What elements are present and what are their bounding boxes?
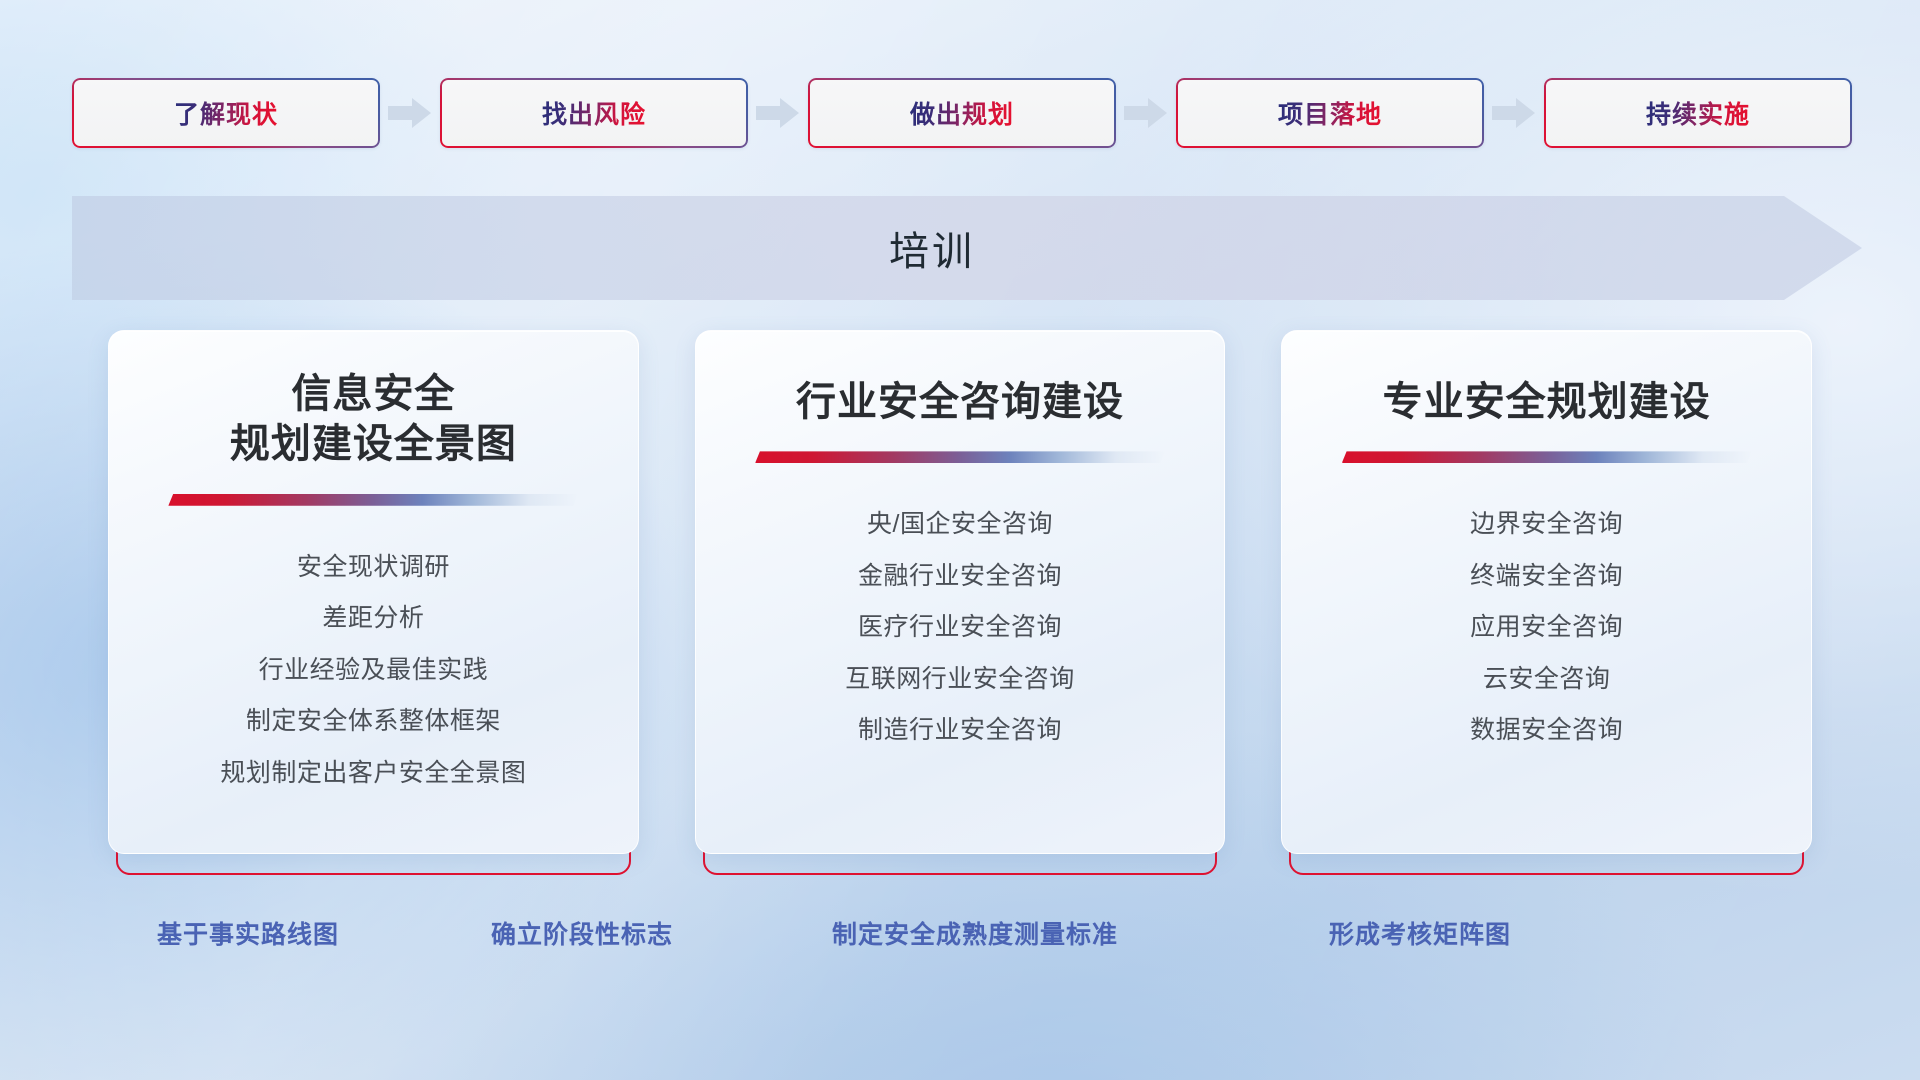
step-box-2[interactable]: 找出风险 — [440, 78, 748, 148]
footer-label-1: 基于事实路线图 — [157, 915, 339, 951]
card-row: 信息安全 规划建设全景图 安全现状调研 差距分析 行业经验及最佳实践 制定安全体… — [108, 330, 1812, 875]
card-list-1: 安全现状调研 差距分析 行业经验及最佳实践 制定安全体系整体框架 规划制定出客户… — [109, 546, 638, 795]
list-item: 终端安全咨询 — [1470, 555, 1623, 598]
step-arrow-icon-2 — [748, 96, 808, 130]
card-divider-3 — [1342, 451, 1752, 463]
step-arrow-icon-1 — [380, 96, 440, 130]
list-item: 央/国企安全咨询 — [867, 503, 1053, 546]
list-item: 制造行业安全咨询 — [858, 709, 1062, 752]
step-label-1: 了解现状 — [174, 95, 278, 131]
list-item: 互联网行业安全咨询 — [845, 658, 1075, 701]
list-item: 云安全咨询 — [1483, 658, 1611, 701]
list-item: 应用安全咨询 — [1470, 606, 1623, 649]
list-item: 金融行业安全咨询 — [858, 555, 1062, 598]
list-item: 差距分析 — [322, 597, 424, 640]
card-divider-2 — [755, 451, 1165, 463]
step-label-4: 项目落地 — [1278, 95, 1382, 131]
footer-label-row: 基于事实路线图 确立阶段性标志 制定安全成熟度测量标准 形成考核矩阵图 — [0, 915, 1920, 965]
step-arrow-icon-3 — [1116, 96, 1176, 130]
card-wrapper-2: 行业安全咨询建设 央/国企安全咨询 金融行业安全咨询 医疗行业安全咨询 互联网行… — [695, 330, 1226, 875]
card-list-3: 边界安全咨询 终端安全咨询 应用安全咨询 云安全咨询 数据安全咨询 — [1282, 503, 1811, 752]
banner-label: 培训 — [72, 196, 1862, 300]
card-title-line: 信息安全 — [230, 369, 517, 419]
step-label-3: 做出规划 — [910, 95, 1014, 131]
card-3[interactable]: 专业安全规划建设 边界安全咨询 终端安全咨询 应用安全咨询 云安全咨询 数据安全… — [1281, 330, 1812, 854]
card-2[interactable]: 行业安全咨询建设 央/国企安全咨询 金融行业安全咨询 医疗行业安全咨询 互联网行… — [695, 330, 1226, 854]
step-label-2: 找出风险 — [542, 95, 646, 131]
list-item: 行业经验及最佳实践 — [259, 649, 489, 692]
card-1[interactable]: 信息安全 规划建设全景图 安全现状调研 差距分析 行业经验及最佳实践 制定安全体… — [108, 330, 639, 854]
step-box-3[interactable]: 做出规划 — [808, 78, 1116, 148]
footer-label-3: 制定安全成熟度测量标准 — [832, 915, 1118, 951]
training-banner: 培训 — [72, 196, 1862, 300]
step-label-5: 持续实施 — [1646, 95, 1750, 131]
card-title-line: 行业安全咨询建设 — [796, 377, 1124, 427]
list-item: 医疗行业安全咨询 — [858, 606, 1062, 649]
step-box-5[interactable]: 持续实施 — [1544, 78, 1852, 148]
step-box-4[interactable]: 项目落地 — [1176, 78, 1484, 148]
card-list-2: 央/国企安全咨询 金融行业安全咨询 医疗行业安全咨询 互联网行业安全咨询 制造行… — [696, 503, 1225, 752]
list-item: 安全现状调研 — [297, 546, 450, 589]
card-title-line: 专业安全规划建设 — [1383, 377, 1711, 427]
card-title-3: 专业安全规划建设 — [1363, 377, 1731, 427]
list-item: 规划制定出客户安全全景图 — [220, 752, 526, 795]
card-title-line: 规划建设全景图 — [230, 419, 517, 469]
process-step-row: 了解现状 找出风险 做出规划 项目落地 持续实施 — [72, 78, 1852, 148]
footer-label-2: 确立阶段性标志 — [491, 915, 673, 951]
step-box-1[interactable]: 了解现状 — [72, 78, 380, 148]
card-wrapper-3: 专业安全规划建设 边界安全咨询 终端安全咨询 应用安全咨询 云安全咨询 数据安全… — [1281, 330, 1812, 875]
list-item: 数据安全咨询 — [1470, 709, 1623, 752]
footer-label-4: 形成考核矩阵图 — [1329, 915, 1511, 951]
list-item: 边界安全咨询 — [1470, 503, 1623, 546]
step-arrow-icon-4 — [1484, 96, 1544, 130]
list-item: 制定安全体系整体框架 — [246, 700, 501, 743]
card-divider-1 — [168, 494, 578, 506]
card-title-1: 信息安全 规划建设全景图 — [210, 369, 537, 470]
card-title-2: 行业安全咨询建设 — [776, 377, 1144, 427]
card-wrapper-1: 信息安全 规划建设全景图 安全现状调研 差距分析 行业经验及最佳实践 制定安全体… — [108, 330, 639, 875]
